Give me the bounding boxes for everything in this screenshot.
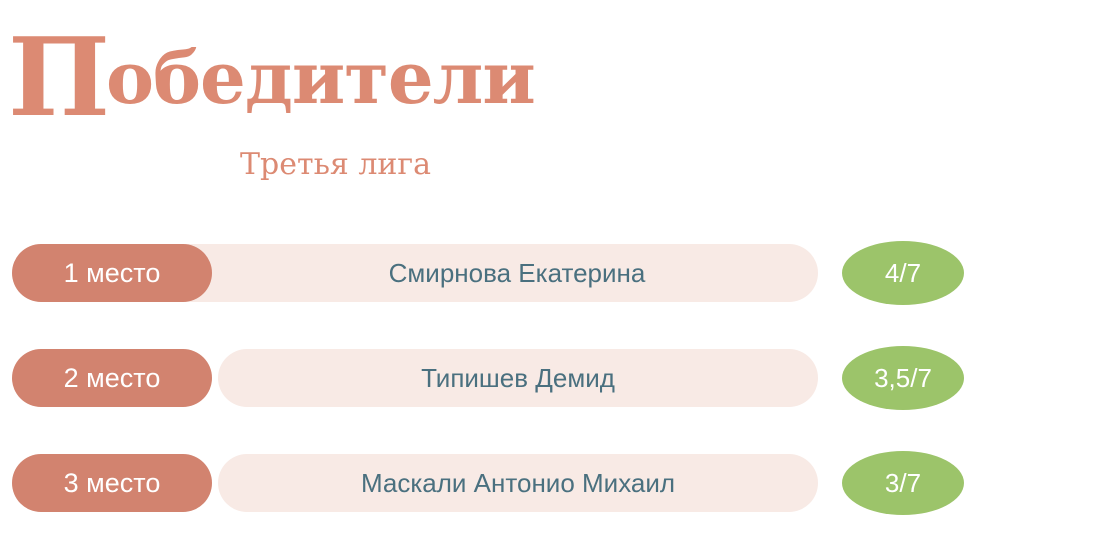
winner-name: Типишев Демид xyxy=(218,349,818,407)
page-title-rest: обедители xyxy=(106,35,535,120)
place-badge: 3 место xyxy=(12,454,212,512)
winner-row: 2 место Типишев Демид 3,5/7 xyxy=(0,337,1118,417)
score-badge: 4/7 xyxy=(842,241,964,305)
winner-row: 3 место Маскали Антонио Михаил 3/7 xyxy=(0,442,1118,522)
winners-list: 1 место Смирнова Екатерина 4/7 2 место Т… xyxy=(0,232,1118,522)
page-title-initial: П xyxy=(8,15,106,141)
score-badge: 3,5/7 xyxy=(842,346,964,410)
winner-name: Маскали Антонио Михаил xyxy=(218,454,818,512)
header: Победители Третья лига xyxy=(0,0,1118,200)
winner-row: 1 место Смирнова Екатерина 4/7 xyxy=(0,232,1118,312)
place-badge: 1 место xyxy=(12,244,212,302)
page-title: Победители xyxy=(8,36,535,120)
page-subtitle: Третья лига xyxy=(240,150,431,180)
place-badge: 2 место xyxy=(12,349,212,407)
score-badge: 3/7 xyxy=(842,451,964,515)
winner-name: Смирнова Екатерина xyxy=(130,244,818,302)
